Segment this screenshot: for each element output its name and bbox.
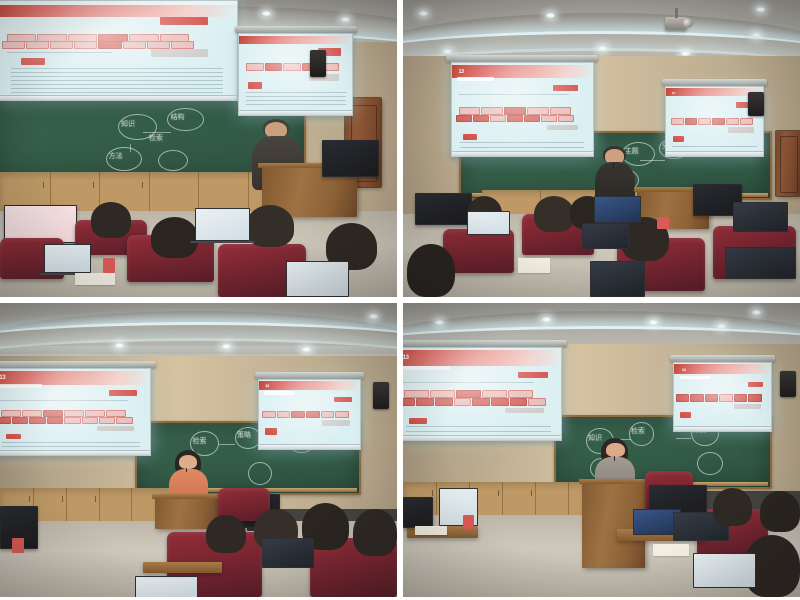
student (91, 202, 131, 238)
cup (12, 538, 24, 553)
side-monitor (403, 497, 433, 528)
downlight-icon (435, 320, 444, 325)
door (776, 131, 800, 196)
projection-screen-left (0, 0, 238, 101)
podium-monitor (322, 140, 380, 178)
downlight-icon (756, 7, 765, 12)
wall-speaker (748, 92, 764, 116)
laptop (262, 538, 314, 567)
downlight-icon (598, 46, 607, 51)
cup (103, 258, 115, 273)
projection-screen-left: 13 (451, 62, 594, 157)
panel-bottom-left: 检索 策略 评价 13 (0, 303, 397, 597)
projection-screen-right: 13 (673, 362, 772, 433)
cup (463, 515, 475, 530)
wall-speaker (780, 371, 796, 397)
panel-top-left: 知识 结构 方法 检索 (0, 0, 397, 297)
laptop (286, 261, 350, 297)
student (760, 491, 800, 532)
student (206, 515, 246, 553)
laptop (594, 196, 642, 223)
downlight-icon (717, 324, 726, 329)
wall-speaker (310, 50, 326, 77)
laptop (590, 261, 646, 297)
laptop (733, 202, 789, 232)
downlight-icon (681, 51, 690, 56)
downlight-icon (262, 11, 271, 16)
paper (518, 258, 550, 273)
paper (75, 273, 115, 285)
laptop (582, 223, 630, 250)
laptop (135, 576, 199, 597)
desk (143, 562, 222, 574)
downlight-icon (546, 13, 555, 18)
student (151, 217, 199, 259)
downlight-icon (752, 310, 761, 315)
paper (415, 526, 447, 535)
student-monitor (4, 205, 77, 243)
laptop (725, 247, 796, 280)
side-monitor (415, 193, 473, 225)
laptop (195, 208, 251, 241)
student (407, 244, 455, 297)
photo-collage: 知识 结构 方法 检索 (0, 0, 800, 600)
projection-screen-right: 13 (258, 379, 361, 450)
student (353, 509, 397, 556)
downlight-icon (369, 314, 378, 319)
paper (653, 544, 689, 556)
cup (657, 217, 669, 229)
wall-speaker (373, 382, 389, 408)
laptop (44, 244, 92, 274)
downlight-icon (419, 11, 428, 16)
downlight-icon (649, 320, 658, 325)
ceiling-projector (665, 17, 687, 30)
downlight-icon (115, 343, 124, 348)
laptop (693, 553, 757, 588)
downlight-icon (443, 49, 452, 54)
student (534, 196, 574, 232)
projection-screen-left: 13 (403, 347, 562, 441)
projection-screen-left: 13 (0, 368, 151, 456)
student (713, 488, 753, 526)
projection-screen-right (238, 33, 353, 116)
panel-bottom-right: 知识 检索 来源 13 (403, 303, 800, 597)
panel-top-right: 主题 分析 13 (403, 0, 800, 297)
laptop (467, 211, 511, 235)
